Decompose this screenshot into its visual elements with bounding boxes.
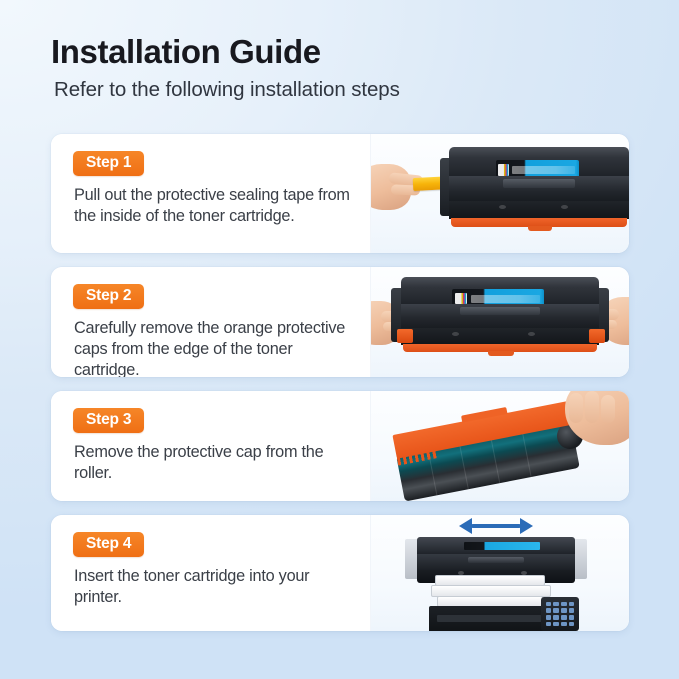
- step-1-badge: Step 1: [73, 151, 144, 176]
- step-card-1: Step 1 Pull out the protective sealing t…: [51, 134, 629, 253]
- step-card-3: Step 3 Remove the protective cap from th…: [51, 391, 629, 501]
- step-3-illustration: [370, 391, 629, 501]
- step-1-description: Pull out the protective sealing tape fro…: [74, 185, 350, 227]
- finger-shape: [585, 391, 599, 423]
- orange-protective-cap-right: [589, 329, 605, 343]
- shake-double-arrow-icon: [459, 518, 533, 534]
- toner-cartridge: [449, 147, 629, 227]
- installation-guide-page: Installation Guide Refer to the followin…: [0, 0, 679, 679]
- step-3-badge: Step 3: [73, 408, 144, 433]
- step-4-description: Insert the toner cartridge into your pri…: [74, 566, 350, 608]
- step-1-text-panel: Step 1 Pull out the protective sealing t…: [51, 134, 370, 253]
- finger-shape: [569, 393, 583, 423]
- step-4-badge: Step 4: [73, 532, 144, 557]
- printer-control-panel: [541, 597, 579, 631]
- header: Installation Guide Refer to the followin…: [51, 34, 400, 102]
- step-2-text-panel: Step 2 Carefully remove the orange prote…: [51, 267, 370, 377]
- steps-list: Step 1 Pull out the protective sealing t…: [51, 134, 629, 645]
- step-3-description: Remove the protective cap from the rolle…: [74, 442, 350, 484]
- printer-illustration: [429, 577, 579, 631]
- step-1-illustration: [370, 134, 629, 253]
- step-2-description: Carefully remove the orange protective c…: [74, 318, 350, 377]
- step-3-text-panel: Step 3 Remove the protective cap from th…: [51, 391, 370, 501]
- toner-cartridge: [401, 277, 599, 352]
- step-card-4: Step 4 Insert the toner cartridge into y…: [51, 515, 629, 631]
- step-2-illustration: [370, 267, 629, 377]
- orange-protective-cap-left: [397, 329, 413, 343]
- step-4-text-panel: Step 4 Insert the toner cartridge into y…: [51, 515, 370, 631]
- step-card-2: Step 2 Carefully remove the orange prote…: [51, 267, 629, 377]
- step-2-badge: Step 2: [73, 284, 144, 309]
- page-subtitle: Refer to the following installation step…: [54, 78, 400, 102]
- cartridge-label: [464, 542, 540, 550]
- finger-shape: [601, 395, 615, 423]
- step-4-illustration: [370, 515, 629, 631]
- page-title: Installation Guide: [51, 34, 400, 71]
